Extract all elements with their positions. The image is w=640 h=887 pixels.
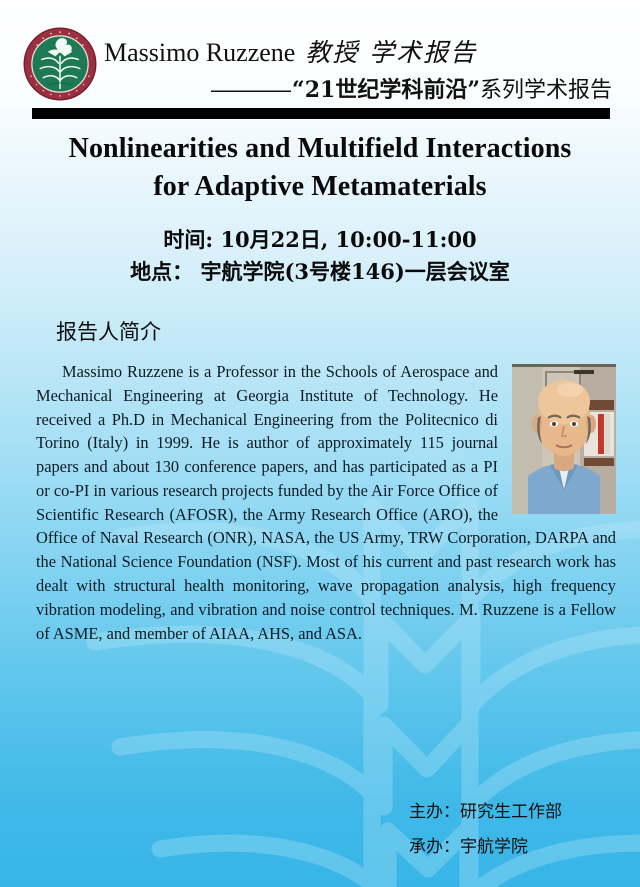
poster-footer: 主办：研究生工作部 承办：宇航学院 [409,795,562,865]
header-speaker-title-cn: 教授 学术报告 [305,38,477,67]
footer-organizer: 主办：研究生工作部 [409,795,562,830]
event-location: 地点： 宇航学院(3号楼146)一层会议室 [0,256,640,288]
footer-host: 承办：宇航学院 [409,830,562,865]
title-line-1: Nonlinearities and Multifield Interactio… [0,130,640,168]
header-divider-bar [32,108,610,119]
header-speaker-line: Massimo Ruzzene教授 学术报告 [104,33,477,69]
header-speaker-name: Massimo Ruzzene [104,38,295,67]
event-details: 时间: 10月22日, 10:00-11:00 地点： 宇航学院(3号楼146)… [0,224,640,287]
header-series-tail: 系列学术报告 [480,78,612,103]
title-line-2: for Adaptive Metamaterials [0,168,640,206]
poster-canvas: Massimo Ruzzene教授 学术报告 ————“21世纪学科前沿”系列学… [0,0,640,887]
university-emblem-icon [22,26,98,102]
page-title: Nonlinearities and Multifield Interactio… [0,130,640,205]
poster-header: Massimo Ruzzene教授 学术报告 ————“21世纪学科前沿”系列学… [0,0,640,118]
header-series-line: ————“21世纪学科前沿”系列学术报告 [210,72,612,104]
header-series-dash: ———— [210,78,290,103]
header-series-quoted: “21世纪学科前沿” [292,77,480,103]
bio-section: Massimo Ruzzene is a Professor in the Sc… [36,360,616,645]
event-time: 时间: 10月22日, 10:00-11:00 [0,224,640,256]
bio-section-heading: 报告人简介 [56,316,161,346]
speaker-photo [512,364,616,514]
